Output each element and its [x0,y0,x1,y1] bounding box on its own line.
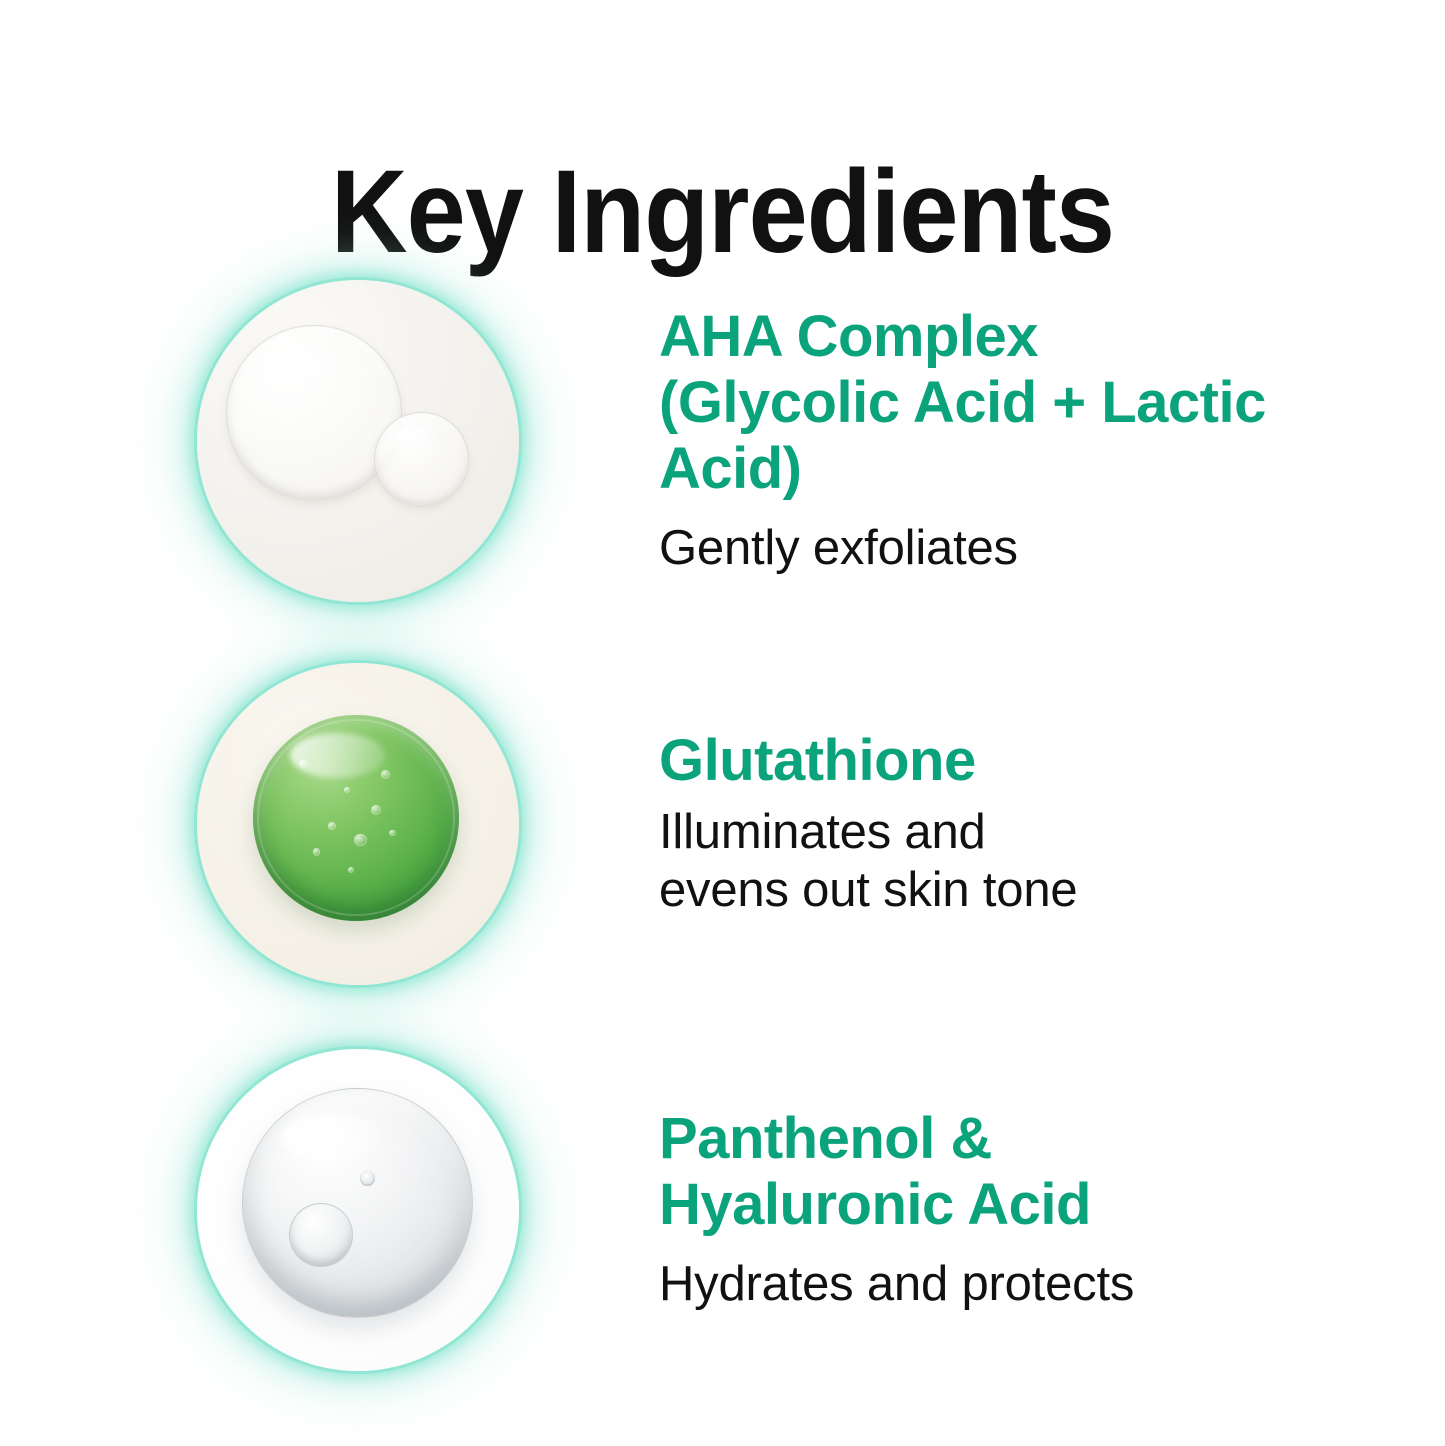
gel-bubble [381,770,390,779]
green-gel-droplet-swatch-icon [197,663,519,985]
ingredient-description-line-1: Gently exfoliates [659,520,1359,578]
gel-bubble [371,805,381,815]
ingredient-row-glutathione: Glutathione Illuminates and evens out sk… [0,662,1445,986]
mini-bubble-shape [360,1171,375,1186]
clear-water-droplet-swatch-icon [197,1049,519,1371]
ingredient-heading-glutathione: Glutathione [659,728,1077,794]
inner-bubble-shape [289,1203,353,1267]
gel-bubble [354,834,366,846]
gel-bubble [344,787,350,793]
ingredient-heading-line-2: (Glycolic Acid + Lactic Acid) [659,370,1359,502]
ingredient-row-panthenol-hyaluronic-acid: Panthenol & Hyaluronic Acid Hydrates and… [0,1048,1445,1372]
ingredient-description-line-2: evens out skin tone [659,862,1077,920]
clear-droplets-swatch-icon [197,280,519,602]
ingredient-description-panthenol-hyaluronic-acid: Hydrates and protects [659,1256,1134,1314]
ingredient-heading-aha-complex: AHA Complex (Glycolic Acid + Lactic Acid… [659,304,1359,502]
page-title: Key Ingredients [72,151,1373,275]
ingredient-heading-panthenol-hyaluronic-acid: Panthenol & Hyaluronic Acid [659,1106,1134,1238]
gel-bubble [389,830,395,836]
ingredient-row-aha-complex: AHA Complex (Glycolic Acid + Lactic Acid… [0,280,1445,602]
ingredient-description-line-1: Hydrates and protects [659,1256,1134,1314]
ingredient-image-wrapper-aha-complex [197,280,519,602]
ingredient-heading-line-1: Glutathione [659,728,1077,794]
key-ingredients-page: Key Ingredients AHA Complex (Glycolic Ac… [0,0,1445,1446]
water-droplet-shape [242,1088,473,1319]
ingredient-description-line-1: Illuminates and [659,804,1077,862]
gel-bubble [299,760,307,768]
green-gel-droplet-shape [253,715,459,921]
ingredient-description-glutathione: Illuminates and evens out skin tone [659,804,1077,920]
gel-bubble [328,822,336,830]
ingredient-heading-line-1: AHA Complex [659,304,1359,370]
gel-bubble [313,848,320,855]
ingredient-description-aha-complex: Gently exfoliates [659,520,1359,578]
ingredient-text-panthenol-hyaluronic-acid: Panthenol & Hyaluronic Acid Hydrates and… [659,1106,1134,1314]
ingredient-image-wrapper-glutathione [197,663,519,985]
ingredient-heading-line-1: Panthenol & [659,1106,1134,1172]
ingredient-text-glutathione: Glutathione Illuminates and evens out sk… [659,728,1077,920]
ingredient-text-aha-complex: AHA Complex (Glycolic Acid + Lactic Acid… [659,304,1359,578]
ingredient-heading-line-2: Hyaluronic Acid [659,1172,1134,1238]
ingredient-image-wrapper-panthenol-hyaluronic-acid [197,1049,519,1371]
gel-bubble [348,867,354,873]
